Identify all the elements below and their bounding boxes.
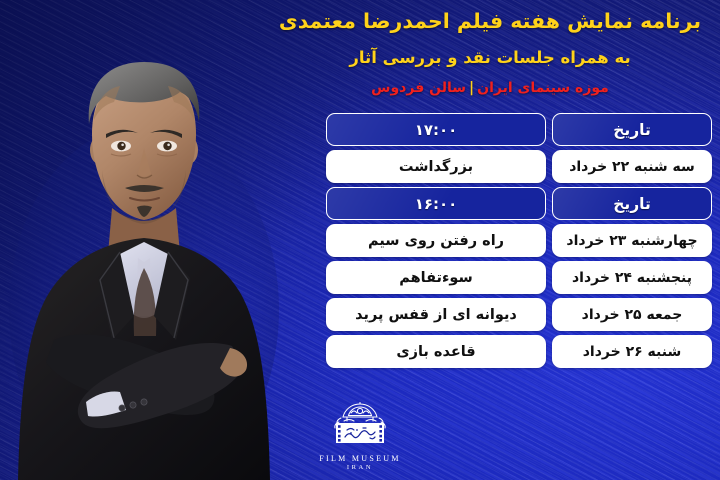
table-row: چهارشنبه ۲۳ خرداد راه رفتن روی سیم <box>326 224 712 257</box>
table-row: جمعه ۲۵ خرداد دیوانه ای از قفس پرید <box>326 298 712 331</box>
logo-name: FILM MUSEUM <box>319 454 401 464</box>
cell-film: قاعده بازی <box>326 335 546 368</box>
logo-country: IRAN <box>319 464 401 472</box>
venue-hall: سالن فردوس <box>371 80 466 96</box>
page-title: برنامه نمایش هفته فیلم احمدرضا معتمدی <box>260 10 720 34</box>
cell-date: جمعه ۲۵ خرداد <box>552 298 712 331</box>
venue-separator: | <box>466 80 477 96</box>
table-row: سه شنبه ۲۲ خرداد بزرگداشت <box>326 150 712 183</box>
cell-film: سوءتفاهم <box>326 261 546 294</box>
cell-film: دیوانه ای از قفس پرید <box>326 298 546 331</box>
cell-film: راه رفتن روی سیم <box>326 224 546 257</box>
portrait-photo <box>0 10 294 480</box>
schedule-header-row: تاریخ ۱۶:۰۰ <box>326 187 712 220</box>
schedule-table: تاریخ ۱۷:۰۰ سه شنبه ۲۲ خرداد بزرگداشت تا… <box>326 113 712 368</box>
header-time-17: ۱۷:۰۰ <box>326 113 546 146</box>
venue-museum: موزه سینمای ایران <box>477 80 609 96</box>
portrait-illustration <box>0 10 294 480</box>
poster-canvas: برنامه نمایش هفته فیلم احمدرضا معتمدی به… <box>0 0 720 480</box>
cell-date: سه شنبه ۲۲ خرداد <box>552 150 712 183</box>
header-time-16: ۱۶:۰۰ <box>326 187 546 220</box>
poster-subtitle: به همراه جلسات نقد و بررسی آثار <box>260 48 720 67</box>
table-row: پنجشنبه ۲۴ خرداد سوءتفاهم <box>326 261 712 294</box>
cell-film: بزرگداشت <box>326 150 546 183</box>
poster-headings: برنامه نمایش هفته فیلم احمدرضا معتمدی به… <box>260 0 720 96</box>
cell-date: پنجشنبه ۲۴ خرداد <box>552 261 712 294</box>
table-row: شنبه ۲۶ خرداد قاعده بازی <box>326 335 712 368</box>
cell-date: شنبه ۲۶ خرداد <box>552 335 712 368</box>
film-museum-logo: FILM MUSEUM IRAN <box>308 402 412 472</box>
cell-date: چهارشنبه ۲۳ خرداد <box>552 224 712 257</box>
header-date-label-2: تاریخ <box>552 187 712 220</box>
logo-caption: FILM MUSEUM IRAN <box>319 454 401 472</box>
header-date-label: تاریخ <box>552 113 712 146</box>
poster-venue: موزه سینمای ایران|سالن فردوس <box>260 80 720 96</box>
film-museum-emblem-icon <box>327 402 393 452</box>
schedule-header-row: تاریخ ۱۷:۰۰ <box>326 113 712 146</box>
